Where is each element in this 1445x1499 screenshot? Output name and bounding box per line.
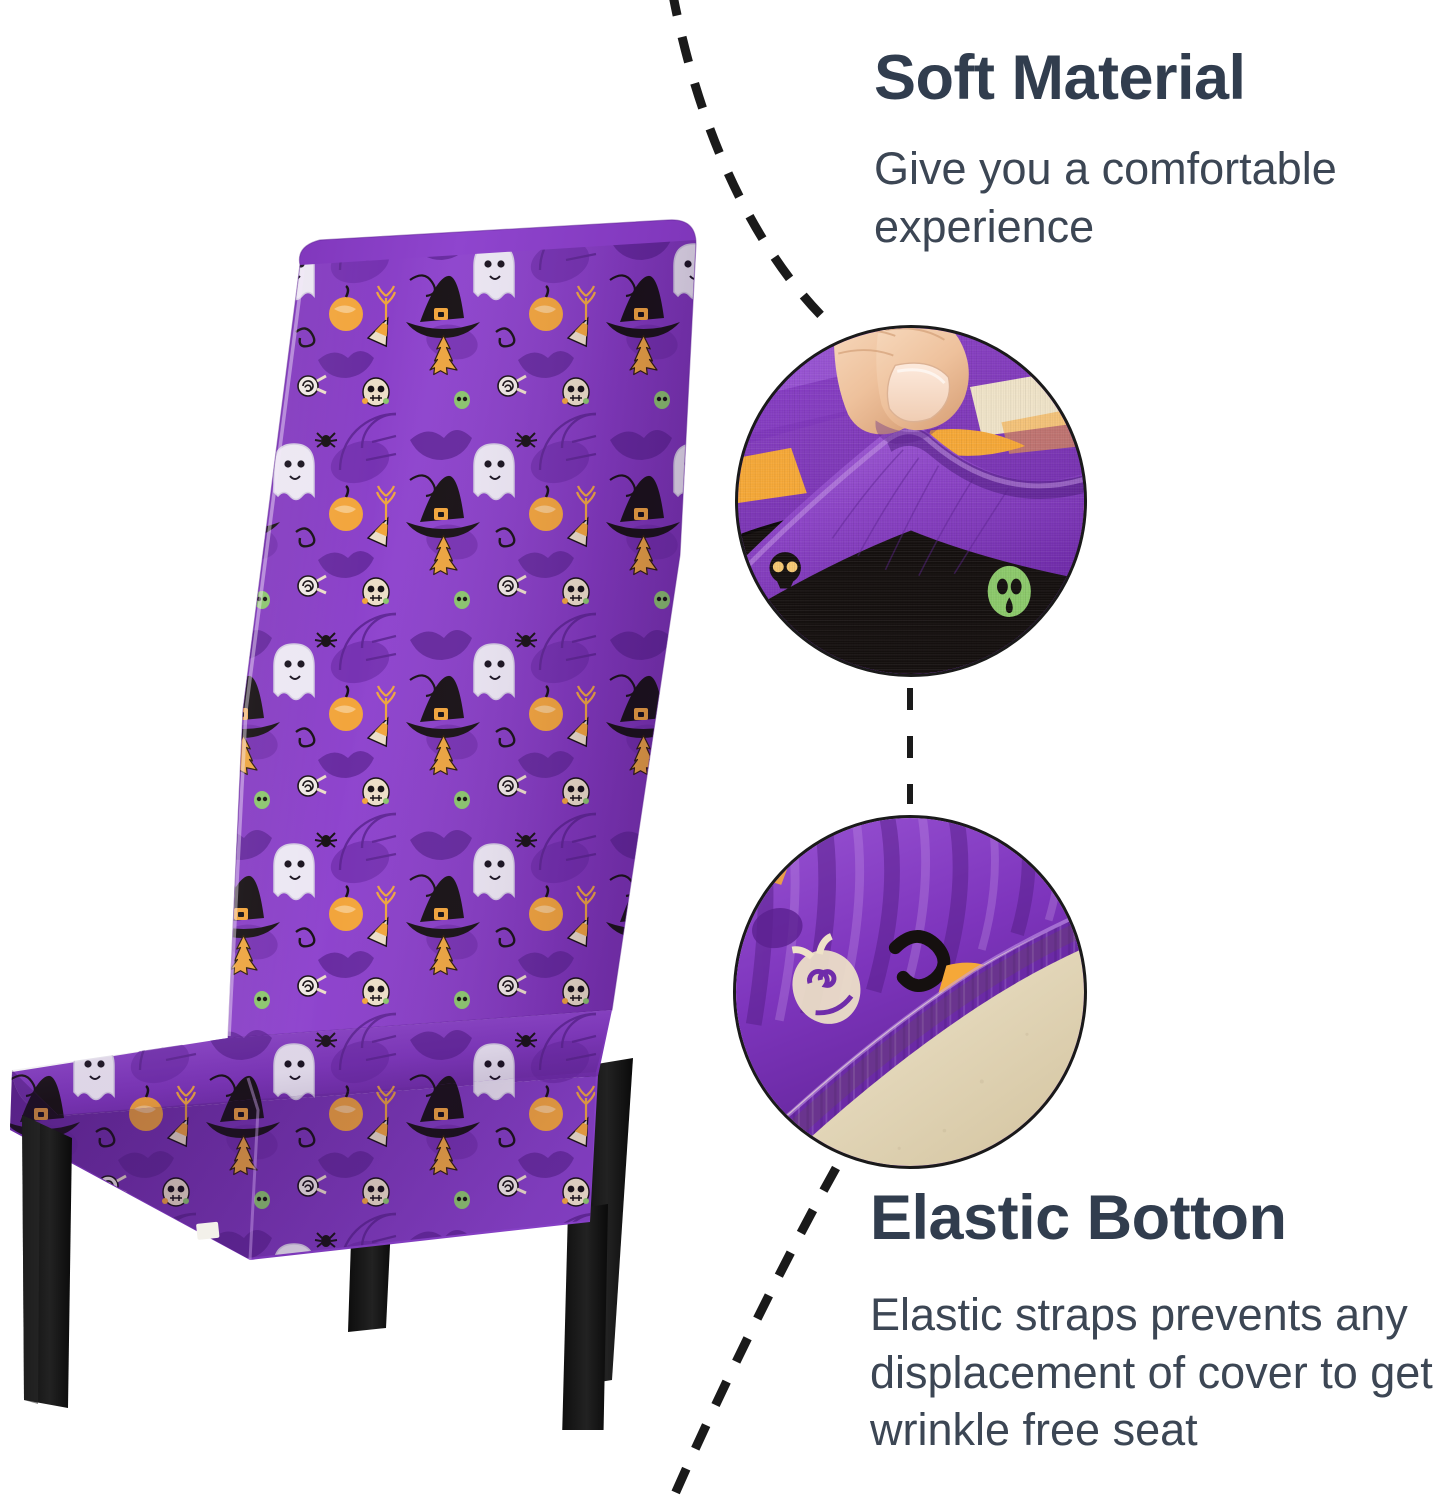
- chair-back-cover: [180, 210, 700, 1090]
- feature-title-elastic-botton: Elastic Botton: [870, 1186, 1445, 1250]
- feature-block-elastic-botton: Elastic Botton Elastic straps prevents a…: [870, 1186, 1445, 1459]
- feature-title-soft-material: Soft Material: [874, 46, 1434, 110]
- circle-connector-dashes: [907, 684, 913, 808]
- feature-description-soft-material: Give you a comfortable experience: [874, 140, 1434, 255]
- detail-circle-elastic-hem: [733, 815, 1087, 1169]
- chair-product-image: [0, 210, 700, 1430]
- chair-front-left-leg: [22, 1115, 72, 1408]
- elastic-hem-photo: [736, 818, 1084, 1166]
- feature-description-elastic-botton: Elastic straps prevents any displacement…: [870, 1286, 1445, 1459]
- detail-circle-fabric-pinch: [735, 325, 1087, 677]
- fabric-pinch-photo: [738, 328, 1084, 674]
- feature-block-soft-material: Soft Material Give you a comfortable exp…: [874, 46, 1434, 255]
- infographic-canvas: Soft Material Give you a comfortable exp…: [0, 0, 1445, 1499]
- chair-illustration: [0, 210, 700, 1430]
